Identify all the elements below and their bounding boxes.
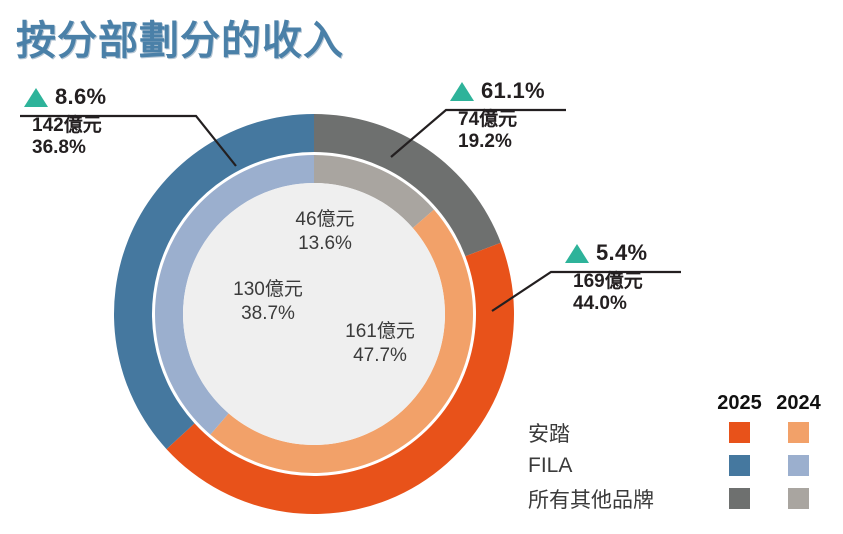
callout-other-brands-share: 19.2%: [458, 131, 590, 153]
callout-anta: 5.4% 169億元 44.0%: [545, 240, 705, 316]
legend-swatch-cell-fila-2024: [769, 455, 828, 476]
revenue-by-segment-chart: 按分部劃分的收入 8.6% 142億元 36.8% 61.1% 74億元 19.…: [0, 0, 843, 534]
callout-other-brands-body: 74億元 19.2%: [430, 106, 590, 154]
callout-anta-body: 169億元 44.0%: [545, 268, 705, 316]
callout-fila: 8.6% 142億元 36.8%: [4, 84, 200, 160]
callout-fila-share: 36.8%: [32, 137, 200, 159]
callout-fila-head: 8.6%: [4, 84, 200, 112]
legend-label-fila: FILA: [528, 454, 710, 478]
legend-row-fila[interactable]: FILA: [528, 449, 828, 482]
callout-fila-amount: 142億元: [32, 115, 200, 137]
callout-fila-body: 142億元 36.8%: [4, 112, 200, 160]
callout-other-brands-amount: 74億元: [458, 109, 590, 131]
callout-other-brands-head: 61.1%: [430, 78, 590, 106]
inner-label-other-brands-2024-share: 13.6%: [265, 232, 385, 256]
callout-other-brands-growth: 61.1%: [481, 78, 545, 104]
legend: 2025 2024 安踏 FILA 所有其他品牌: [528, 392, 828, 515]
legend-swatch-fila-2025: [729, 455, 750, 476]
legend-swatch-cell-anta-2024: [769, 422, 828, 443]
legend-label-anta: 安踏: [528, 418, 710, 448]
legend-swatch-cell-other-brands-2024: [769, 488, 828, 509]
inner-label-other-brands-2024: 46億元 13.6%: [265, 208, 385, 256]
callout-anta-amount: 169億元: [573, 271, 705, 293]
inner-label-fila-2024-amount: 130億元: [203, 278, 333, 302]
legend-label-other-brands: 所有其他品牌: [528, 484, 710, 514]
triangle-up-icon: [450, 82, 474, 101]
legend-swatch-anta-2025: [729, 422, 750, 443]
legend-header: 2025 2024: [528, 392, 828, 416]
legend-swatch-other-brands-2025: [729, 488, 750, 509]
legend-row-other-brands[interactable]: 所有其他品牌: [528, 482, 828, 515]
inner-label-anta-2024-share: 47.7%: [315, 344, 445, 368]
inner-label-anta-2024-amount: 161億元: [315, 320, 445, 344]
inner-label-fila-2024-share: 38.7%: [203, 302, 333, 326]
legend-swatch-cell-anta-2025: [710, 422, 769, 443]
legend-row-anta[interactable]: 安踏: [528, 416, 828, 449]
triangle-up-icon: [565, 244, 589, 263]
triangle-up-icon: [24, 88, 48, 107]
legend-swatch-cell-fila-2025: [710, 455, 769, 476]
legend-swatch-fila-2024: [788, 455, 809, 476]
inner-label-fila-2024: 130億元 38.7%: [203, 278, 333, 326]
legend-col-2025: 2025: [710, 392, 769, 415]
callout-anta-head: 5.4%: [545, 240, 705, 268]
inner-label-anta-2024: 161億元 47.7%: [315, 320, 445, 368]
legend-swatch-anta-2024: [788, 422, 809, 443]
legend-swatch-cell-other-brands-2025: [710, 488, 769, 509]
legend-swatch-other-brands-2024: [788, 488, 809, 509]
callout-other-brands: 61.1% 74億元 19.2%: [430, 78, 590, 154]
callout-anta-share: 44.0%: [573, 293, 705, 315]
callout-fila-growth: 8.6%: [55, 84, 106, 110]
inner-label-other-brands-2024-amount: 46億元: [265, 208, 385, 232]
legend-col-2024: 2024: [769, 392, 828, 415]
callout-anta-growth: 5.4%: [596, 240, 647, 266]
